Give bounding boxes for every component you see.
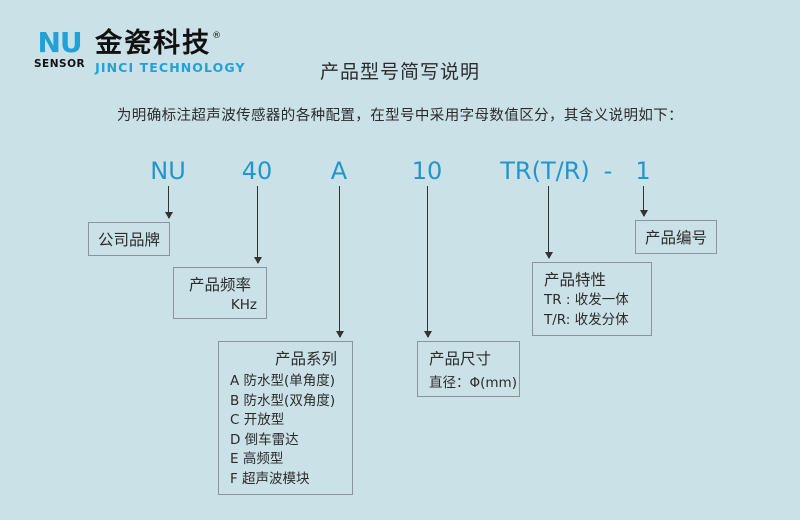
model-code-part-feature: TR(T/R): [500, 157, 589, 185]
model-code-part-series: A: [331, 157, 347, 185]
series-item-a: A 防水型(单角度): [228, 372, 343, 392]
feature-line-t-r: T/R: 收发分体: [542, 311, 642, 331]
logo-chinese-row: 金瓷科技 ®: [95, 30, 246, 57]
box-company-brand: 公司品牌: [88, 222, 170, 256]
box-product-size-title: 产品尺寸: [427, 347, 510, 369]
connector-arrow-frequency: [257, 186, 258, 263]
box-product-frequency-unit: KHz: [183, 297, 257, 313]
series-item-f: F 超声波模块: [228, 470, 343, 490]
model-code-part-frequency: 40: [242, 157, 273, 185]
page-subtitle: 为明确标注超声波传感器的各种配置，在型号中采用字母数值区分，其含义说明如下：: [0, 104, 800, 125]
page-title: 产品型号简写说明: [0, 57, 800, 84]
box-product-size-spec: 直径：Φ(mm): [427, 371, 510, 391]
box-product-serial-title: 产品编号: [645, 226, 707, 248]
connector-arrow-serial: [643, 186, 644, 216]
logo-nu-text: NU: [37, 30, 81, 57]
series-item-e: E 高频型: [228, 450, 343, 470]
series-item-b: B 防水型(双角度): [228, 392, 343, 412]
box-product-serial: 产品编号: [635, 220, 717, 254]
box-product-series: 产品系列 A 防水型(单角度) B 防水型(双角度) C 开放型 D 倒车雷达 …: [218, 341, 353, 495]
connector-arrow-series: [339, 186, 340, 337]
box-product-feature-title: 产品特性: [542, 268, 642, 290]
model-code-separator: -: [604, 157, 613, 185]
feature-line-tr: TR : 收发一体: [542, 291, 642, 311]
series-item-c: C 开放型: [228, 411, 343, 431]
model-code-part-brand: NU: [150, 157, 186, 185]
model-code-part-serial: 1: [635, 157, 650, 185]
box-product-size: 产品尺寸 直径：Φ(mm): [417, 341, 520, 397]
connector-arrow-brand: [168, 186, 169, 218]
registered-trademark-icon: ®: [212, 31, 221, 41]
model-code-part-size: 10: [412, 157, 443, 185]
connector-arrow-feature: [548, 186, 549, 258]
series-item-d: D 倒车雷达: [228, 431, 343, 451]
box-company-brand-title: 公司品牌: [98, 228, 160, 250]
box-product-frequency-title: 产品频率: [183, 273, 257, 295]
logo-chinese-name: 金瓷科技: [95, 30, 211, 57]
connector-arrow-size: [427, 186, 428, 337]
box-product-frequency: 产品频率 KHz: [173, 267, 267, 319]
box-product-series-title: 产品系列: [228, 347, 343, 369]
box-product-feature: 产品特性 TR : 收发一体 T/R: 收发分体: [532, 262, 652, 336]
